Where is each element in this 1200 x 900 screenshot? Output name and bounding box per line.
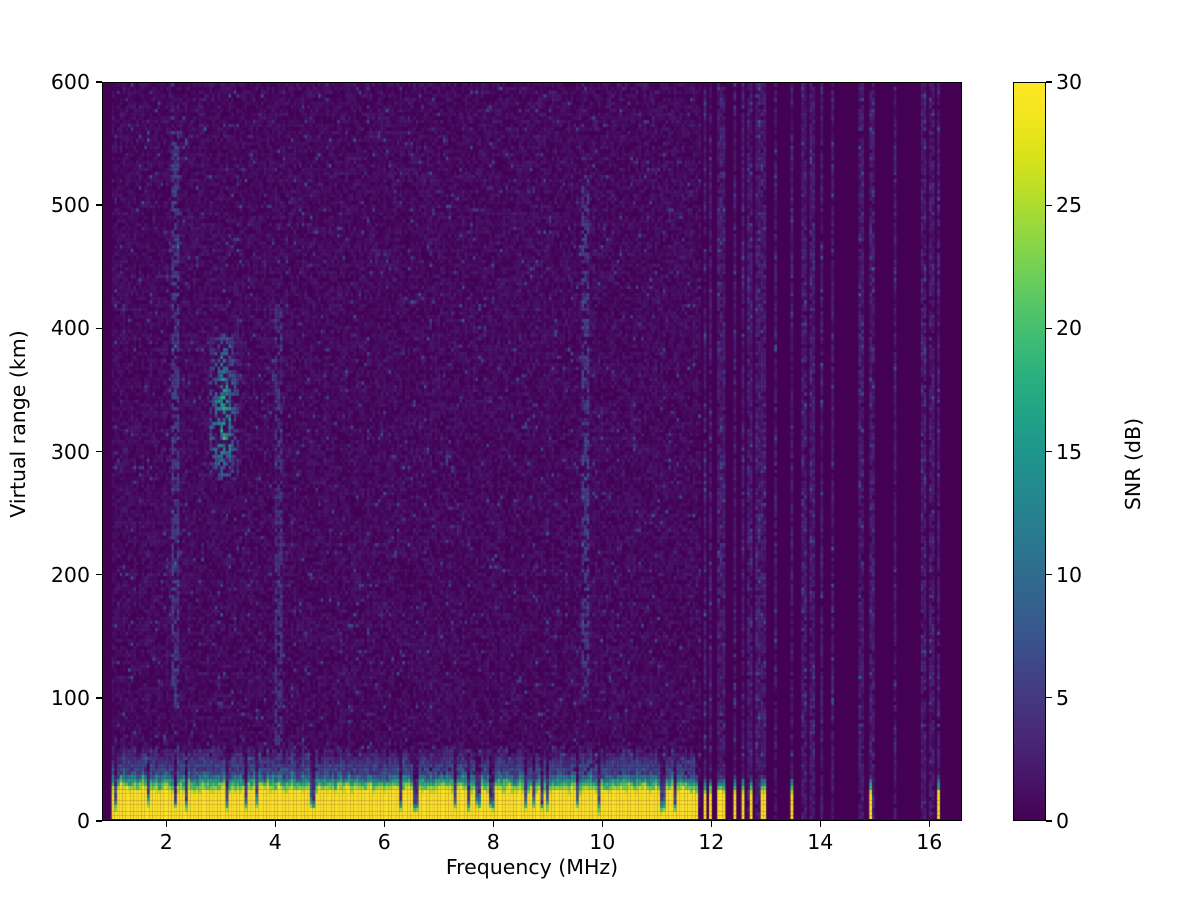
colorbar-tick-mark [1046,205,1052,206]
x-tick-label: 4 [235,832,315,853]
x-tick-label: 12 [671,832,751,853]
colorbar-tick-label: 0 [1056,811,1126,832]
x-tick-mark [493,821,494,827]
x-tick-mark [166,821,167,827]
y-tick-label: 200 [0,565,90,586]
colorbar-tick-mark [1046,451,1052,452]
x-tick-mark [820,821,821,827]
colorbar-tick-mark [1046,574,1052,575]
x-tick-mark [602,821,603,827]
x-tick-mark [711,821,712,827]
x-tick-mark [929,821,930,827]
y-axis-label: Virtual range (km) [6,294,30,554]
colorbar-tick-mark [1046,697,1052,698]
x-tick-mark [275,821,276,827]
colorbar-tick-mark [1046,328,1052,329]
x-tick-label: 10 [562,832,642,853]
x-tick-mark [384,821,385,827]
x-tick-label: 14 [780,832,860,853]
colorbar-tick-label: 25 [1056,195,1126,216]
x-tick-label: 8 [453,832,533,853]
colorbar-tick-label: 30 [1056,72,1126,93]
colorbar-label: SNR (dB) [1121,334,1145,594]
x-tick-label: 16 [889,832,969,853]
colorbar-tick-mark [1046,820,1052,821]
colorbar-tick-label: 20 [1056,318,1126,339]
y-tick-label: 0 [0,811,90,832]
x-tick-label: 2 [126,832,206,853]
ionogram-heatmap [103,83,960,819]
x-tick-label: 6 [344,832,424,853]
colorbar-tick-label: 10 [1056,565,1126,586]
y-tick-label: 100 [0,688,90,709]
colorbar [1013,82,1046,821]
colorbar-tick-mark [1046,81,1052,82]
colorbar-tick-label: 15 [1056,442,1126,463]
x-axis-label: Frequency (MHz) [102,855,962,879]
ionogram-axes [102,82,962,821]
colorbar-tick-label: 5 [1056,688,1126,709]
ionogram-figure: IRF Kiruna Ionosonde KI167 2025-10-16 04… [0,0,1200,900]
